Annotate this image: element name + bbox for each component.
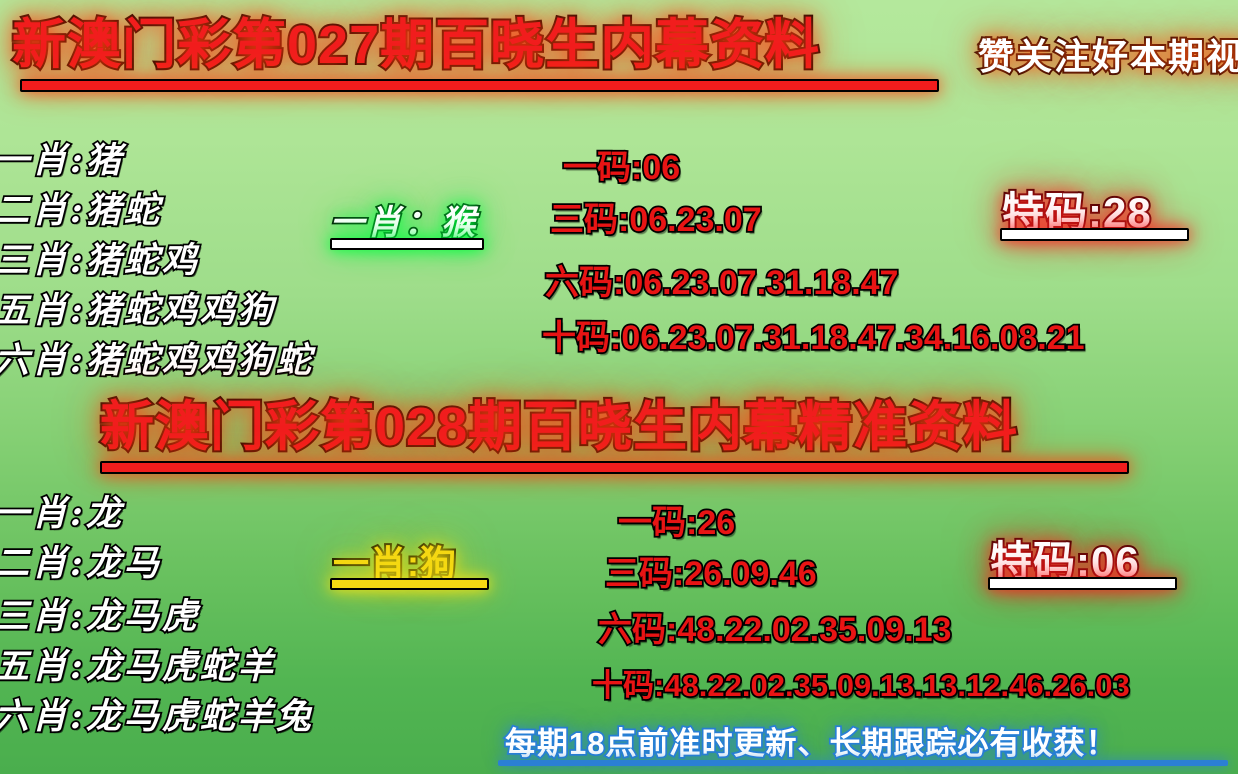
section1-code-10: 十码:06.23.07.31.18.47.34.16.08.21 — [542, 310, 1085, 359]
section2-code-6: 六码:48.22.02.35.09.13 — [598, 602, 951, 651]
section1-title-underline — [20, 79, 939, 92]
section2-zodiac-row-5: 五肖:龙马虎蛇羊 — [0, 638, 276, 689]
section1-title: 新澳门彩第027期百晓生内幕资料 — [12, 18, 820, 72]
section2-code-3: 三码:26.09.46 — [605, 546, 817, 595]
section1-featured-zodiac: 一肖：猴 — [330, 195, 478, 244]
section1-code-3: 三码:06.23.07 — [550, 192, 762, 241]
section2-title: 新澳门彩第028期百晓生内幕精准资料 — [100, 400, 1018, 454]
section1-code-6: 六码:06.23.07.31.18.47 — [545, 255, 898, 304]
section2-zodiac-row-1: 一肖:龙 — [0, 485, 124, 536]
section2-zodiac-row-6: 六肖:龙马虎蛇羊兔 — [0, 688, 314, 739]
poster-canvas: 新澳门彩第027期百晓生内幕资料 赞关注好本期视频 一肖:猪 二肖:猪蛇 三肖:… — [0, 0, 1238, 774]
section1-zodiac-row-6: 六肖:猪蛇鸡鸡狗蛇 — [0, 332, 314, 383]
section2-zodiac-row-2: 二肖:龙马 — [0, 535, 162, 586]
section2-zodiac-row-3: 三肖:龙马虎 — [0, 588, 200, 639]
section2-featured-zodiac-underline — [330, 578, 489, 590]
section2-code-10: 十码:48.22.02.35.09.13.13.12.46.26.03 — [592, 660, 1130, 705]
promo-headline: 赞关注好本期视频 — [978, 28, 1238, 80]
section1-zodiac-row-1: 一肖:猪 — [0, 132, 124, 183]
footer-message: 每期18点前准时更新、长期跟踪必有收获！ — [505, 718, 1117, 763]
section1-code-1: 一码:06 — [563, 140, 680, 189]
section2-title-underline — [100, 461, 1129, 474]
footer-underline — [498, 760, 1228, 766]
section2-special-underline — [988, 577, 1177, 590]
section1-featured-zodiac-underline — [330, 238, 484, 250]
section1-zodiac-row-2: 二肖:猪蛇 — [0, 182, 162, 233]
section1-special-underline — [1000, 228, 1189, 241]
section2-code-1: 一码:26 — [618, 495, 735, 544]
section1-zodiac-row-5: 五肖:猪蛇鸡鸡狗 — [0, 282, 276, 333]
section1-zodiac-row-3: 三肖:猪蛇鸡 — [0, 232, 200, 283]
